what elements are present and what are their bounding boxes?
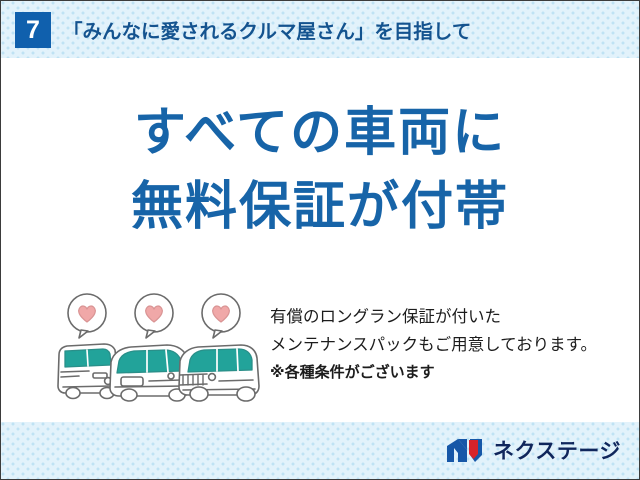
nexstage-n-icon (445, 437, 485, 464)
heart-bubble-center (135, 294, 173, 338)
heart-bubble-left (68, 294, 106, 338)
headline-line-1: すべての車両に (1, 97, 639, 171)
headline-line-2: 無料保証が付帯 (1, 171, 639, 245)
page-title: すべての車両に 無料保証が付帯 (1, 97, 639, 245)
body-copy-line-1: 有償のロングラン保証が付いた (270, 303, 597, 331)
header-title: 「みんなに愛されるクルマ屋さん」を目指して (63, 15, 471, 44)
section-number-badge: 7 (15, 12, 51, 48)
car-suv-right (179, 345, 259, 401)
body-copy-line-2: メンテナンスパックもご用意しております。 (270, 331, 597, 359)
header: 7 「みんなに愛されるクルマ屋さん」を目指して (1, 1, 471, 58)
content-row: 有償のロングラン保証が付いた メンテナンスパックもご用意しております。 ※各種条… (1, 289, 639, 409)
cars-svg (49, 289, 264, 404)
heart-bubble-right (202, 294, 240, 338)
brand-logo-text: ネクステージ (493, 435, 621, 465)
promo-banner: 7 「みんなに愛されるクルマ屋さん」を目指して すべての車両に 無料保証が付帯 (0, 0, 640, 480)
brand-logo: ネクステージ (445, 435, 621, 465)
three-cars-illustration (49, 289, 264, 404)
body-copy-note: ※各種条件がございます (270, 360, 597, 386)
body-copy: 有償のロングラン保証が付いた メンテナンスパックもご用意しております。 ※各種条… (270, 289, 597, 386)
